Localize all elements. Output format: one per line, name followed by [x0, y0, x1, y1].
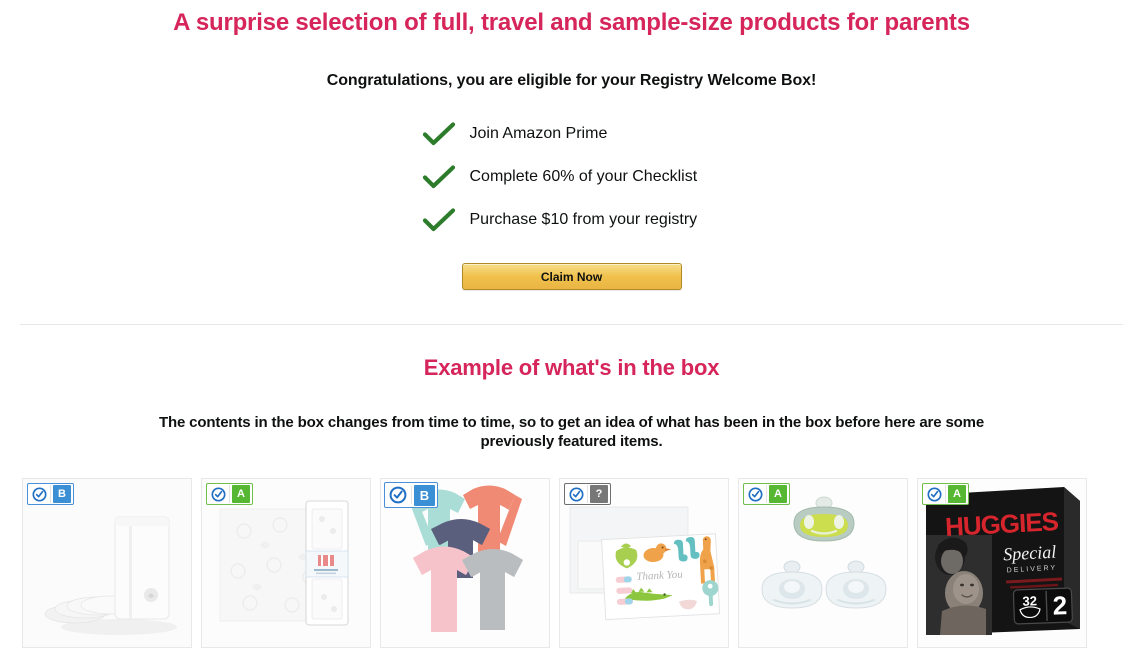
product-grade-badge: A	[743, 483, 790, 505]
check-circle-icon	[923, 484, 945, 504]
grade-letter: A	[769, 485, 787, 503]
product-grade-badge: B	[384, 482, 438, 508]
green-check-icon	[422, 121, 456, 147]
grade-letter: B	[53, 485, 71, 503]
grade-letter: ?	[590, 485, 608, 503]
welcome-box-promo: A surprise selection of full, travel and…	[0, 0, 1143, 290]
product-card-diaper-pail-refill[interactable]: B	[22, 478, 192, 648]
check-circle-icon	[385, 483, 411, 507]
promo-headline: A surprise selection of full, travel and…	[0, 8, 1143, 38]
badge-separator	[411, 486, 412, 504]
product-card-pacifier-set[interactable]: A	[738, 478, 908, 648]
green-check-icon	[422, 164, 456, 190]
claim-now-button[interactable]: Claim Now	[462, 263, 682, 290]
check-circle-icon	[565, 484, 587, 504]
svg-text:2: 2	[1052, 590, 1068, 620]
claim-button-container: Claim Now	[0, 263, 1143, 290]
checklist-item: Complete 60% of your Checklist	[422, 155, 722, 198]
grade-letter: A	[948, 485, 966, 503]
product-grade-badge: A	[206, 483, 253, 505]
svg-text:Special: Special	[1003, 542, 1057, 565]
section-divider	[20, 324, 1123, 325]
box-example-description: The contents in the box changes from tim…	[142, 413, 1002, 451]
badge-separator	[587, 485, 588, 503]
product-grade-badge: A	[922, 483, 969, 505]
badge-separator	[50, 485, 51, 503]
svg-text:HUGGIES: HUGGIES	[944, 506, 1059, 542]
product-card-baby-bodysuit-set[interactable]: B	[380, 478, 550, 648]
promo-subheadline: Congratulations, you are eligible for yo…	[0, 72, 1143, 90]
check-circle-icon	[207, 484, 229, 504]
box-example-headline: Example of what's in the box	[0, 355, 1143, 381]
checklist-item-label: Join Amazon Prime	[470, 124, 608, 144]
checklist-item: Join Amazon Prime	[422, 112, 722, 155]
check-circle-icon	[744, 484, 766, 504]
badge-separator	[766, 485, 767, 503]
product-card-swaddle-blanket[interactable]: A	[201, 478, 371, 648]
product-grade-badge: B	[27, 483, 74, 505]
product-card-huggies-diapers[interactable]: HUGGIES Special DELIVERY 32 2	[917, 478, 1087, 648]
featured-products-strip: B	[22, 478, 1087, 648]
checklist-item: Purchase $10 from your registry	[422, 198, 722, 241]
checklist-item-label: Complete 60% of your Checklist	[470, 167, 698, 187]
grade-letter: A	[232, 485, 250, 503]
check-circle-icon	[28, 484, 50, 504]
grade-letter: B	[414, 485, 435, 506]
product-card-thank-you-card[interactable]: Thank You ?	[559, 478, 729, 648]
svg-text:Thank You: Thank You	[636, 569, 683, 583]
badge-separator	[945, 485, 946, 503]
green-check-icon	[422, 207, 456, 233]
badge-separator	[229, 485, 230, 503]
checklist-item-label: Purchase $10 from your registry	[470, 210, 698, 230]
product-grade-badge: ?	[564, 483, 611, 505]
eligibility-checklist: Join Amazon Prime Complete 60% of your C…	[422, 112, 722, 241]
box-example-section: Example of what's in the box The content…	[0, 355, 1143, 451]
